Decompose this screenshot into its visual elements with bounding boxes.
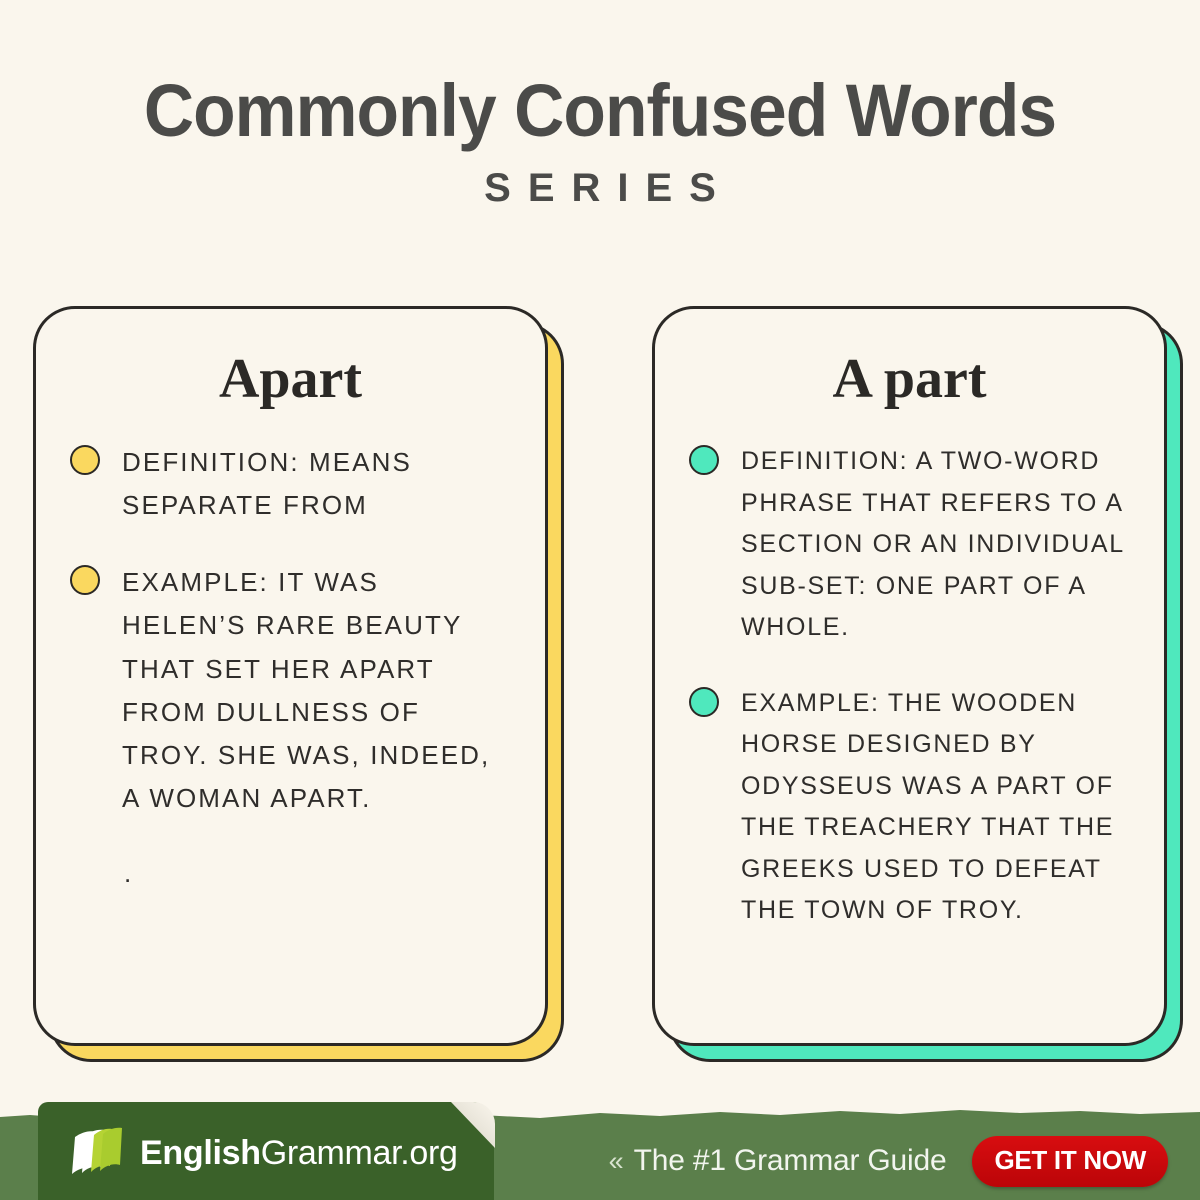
bullet-list-apart: DEFINITION: MEANS SEPARATE FROM EXAMPLE:… [70,441,511,820]
bullet-text: EXAMPLE: IT WAS HELEN’S RARE BEAUTY THAT… [122,561,511,820]
card-title-a-part: A part [689,351,1130,407]
logo-ribbon: EnglishGrammar.org [38,1102,494,1200]
trailing-period: . [70,858,511,889]
bullet-dot-icon [689,687,719,717]
list-item: EXAMPLE: IT WAS HELEN’S RARE BEAUTY THAT… [70,561,511,820]
header: Commonly Confused Words SERIES [0,0,1200,211]
footer: EnglishGrammar.org « The #1 Grammar Guid… [0,1094,1200,1200]
bullet-dot-icon [689,445,719,475]
site-logo[interactable]: EnglishGrammar.org [66,1120,458,1187]
bullet-list-a-part: DEFINITION: A TWO-WORD PHRASE THAT REFER… [689,441,1130,932]
page-title: Commonly Confused Words [36,72,1164,150]
card-body-a-part: A part DEFINITION: A TWO-WORD PHRASE THA… [652,306,1167,1046]
card-title-apart: Apart [70,351,511,407]
infographic-page: Commonly Confused Words SERIES Apart DEF… [0,0,1200,211]
logo-wordmark: EnglishGrammar.org [140,1134,458,1173]
card-body-apart: Apart DEFINITION: MEANS SEPARATE FROM EX… [33,306,548,1046]
list-item: DEFINITION: MEANS SEPARATE FROM [70,441,511,527]
bullet-dot-icon [70,565,100,595]
bullet-text: EXAMPLE: THE WOODEN HORSE DESIGNED BY OD… [741,683,1130,932]
double-chevron-left-icon: « [609,1148,624,1175]
bullet-dot-icon [70,445,100,475]
logo-bold-text: English [140,1134,261,1172]
comparison-cards: Apart DEFINITION: MEANS SEPARATE FROM EX… [0,306,1200,1066]
logo-light-text: Grammar.org [261,1134,458,1172]
bullet-text: DEFINITION: MEANS SEPARATE FROM [122,441,511,527]
get-it-now-button[interactable]: GET IT NOW [972,1136,1168,1187]
list-item: EXAMPLE: THE WOODEN HORSE DESIGNED BY OD… [689,683,1130,932]
card-apart: Apart DEFINITION: MEANS SEPARATE FROM EX… [33,306,548,1046]
book-icon [66,1120,130,1187]
list-item: DEFINITION: A TWO-WORD PHRASE THAT REFER… [689,441,1130,649]
book-icon-shape [66,1120,130,1182]
page-subtitle: SERIES [0,166,1200,211]
bullet-text: DEFINITION: A TWO-WORD PHRASE THAT REFER… [741,441,1130,649]
card-a-part: A part DEFINITION: A TWO-WORD PHRASE THA… [652,306,1167,1046]
footer-tagline: The #1 Grammar Guide [634,1144,947,1178]
footer-cta-group: « The #1 Grammar Guide GET IT NOW [609,1134,1168,1188]
